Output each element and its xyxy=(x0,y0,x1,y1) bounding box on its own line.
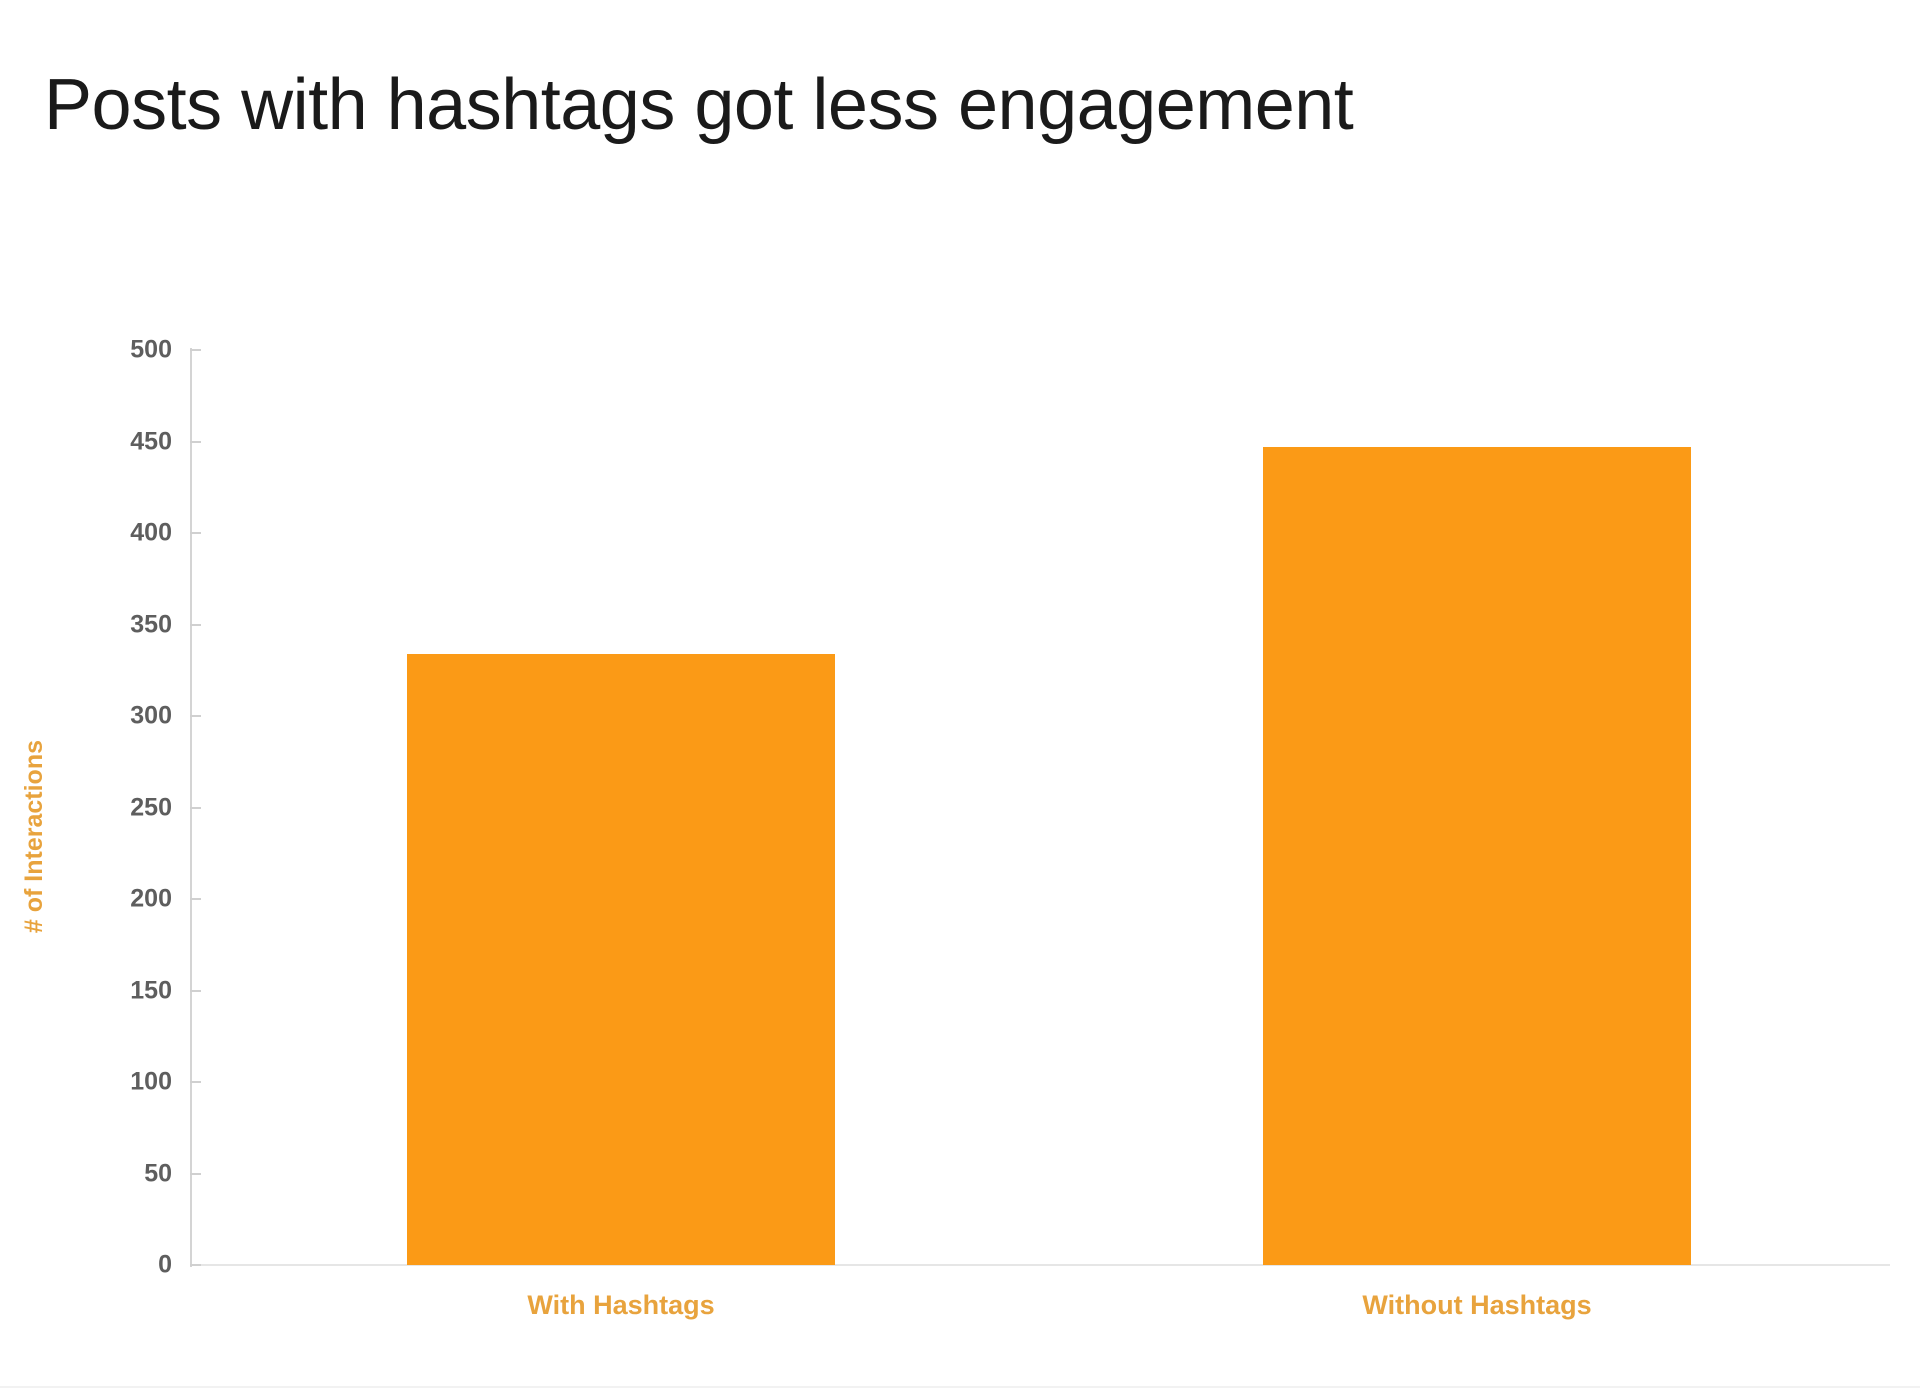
bar-chart: # of Interactions 0501001502002503003504… xyxy=(0,0,1920,1388)
y-tick-label: 50 xyxy=(68,1161,172,1186)
y-tick-mark xyxy=(190,1173,201,1175)
y-tick-label: 250 xyxy=(68,795,172,820)
y-tick-label: 400 xyxy=(68,521,172,546)
x-category-label: With Hashtags xyxy=(321,1292,921,1319)
y-tick-mark xyxy=(190,715,201,717)
x-category-label: Without Hashtags xyxy=(1177,1292,1777,1319)
y-tick-mark xyxy=(190,624,201,626)
y-tick-mark xyxy=(190,990,201,992)
y-tick-label: 300 xyxy=(68,704,172,729)
y-tick-mark xyxy=(190,349,201,351)
y-tick-label: 500 xyxy=(68,338,172,363)
y-tick-mark xyxy=(190,898,201,900)
y-axis-title: # of Interactions xyxy=(22,740,47,933)
y-tick-mark xyxy=(190,441,201,443)
y-tick-mark xyxy=(190,532,201,534)
y-tick-mark xyxy=(190,1264,201,1266)
y-tick-mark xyxy=(190,807,201,809)
y-tick-label: 0 xyxy=(68,1253,172,1278)
bar xyxy=(407,654,835,1265)
y-tick-label: 150 xyxy=(68,978,172,1003)
y-tick-label: 200 xyxy=(68,887,172,912)
y-tick-label: 350 xyxy=(68,612,172,637)
slide-canvas: Posts with hashtags got less engagement … xyxy=(0,0,1920,1388)
bar xyxy=(1263,447,1691,1265)
y-tick-mark xyxy=(190,1081,201,1083)
y-tick-label: 100 xyxy=(68,1070,172,1095)
y-tick-label: 450 xyxy=(68,429,172,454)
